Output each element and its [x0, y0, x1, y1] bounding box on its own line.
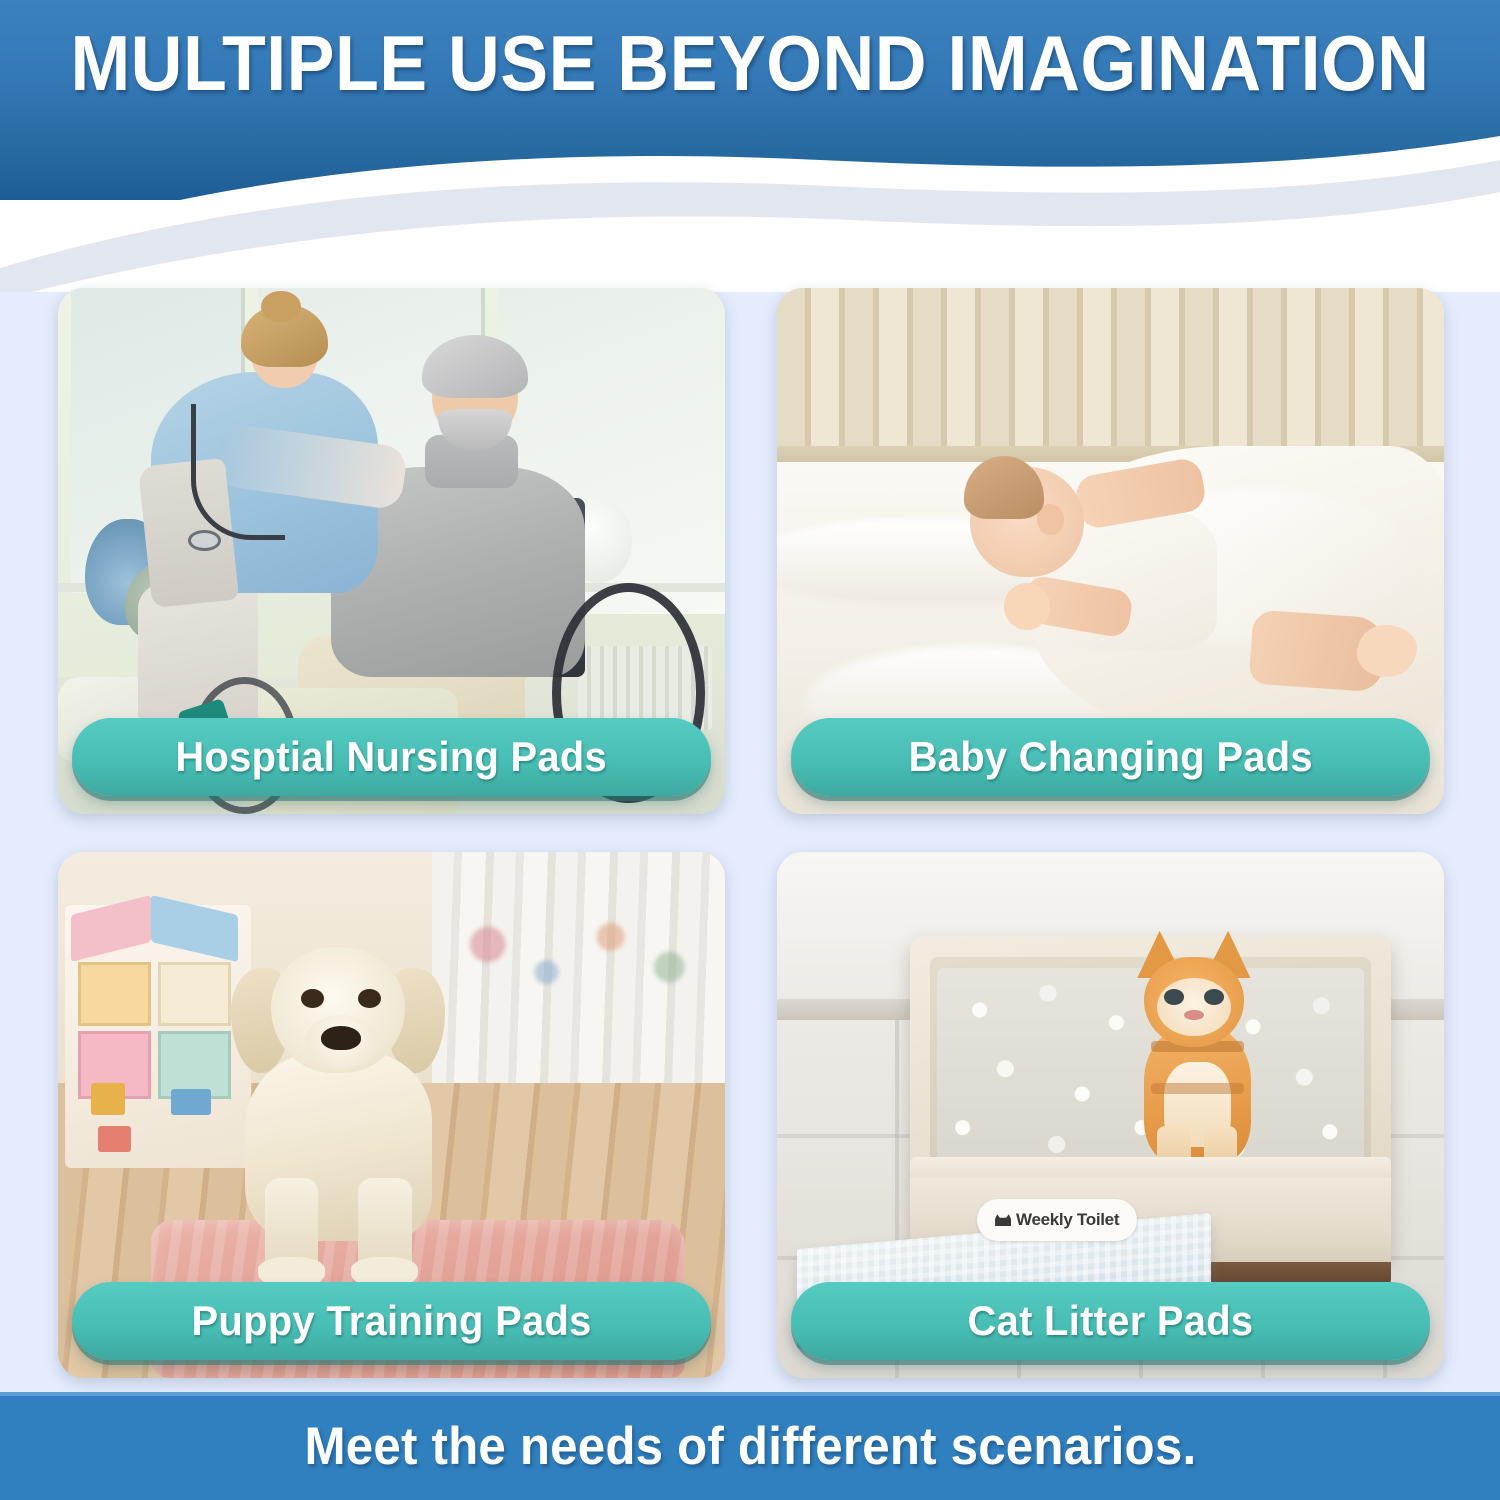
brand-name: Weekly Toilet: [1016, 1210, 1119, 1230]
badge-label: Baby Changing Pads: [908, 733, 1312, 781]
badge-baby-changing: Baby Changing Pads: [791, 718, 1430, 796]
use-case-card-baby-changing[interactable]: Baby Changing Pads: [777, 288, 1444, 814]
badge-label: Cat Litter Pads: [968, 1297, 1254, 1345]
product-brand-sticker: Weekly Toilet: [977, 1199, 1137, 1241]
badge-cat-litter: Cat Litter Pads: [791, 1282, 1430, 1360]
footer-tagline: Meet the needs of different scenarios.: [304, 1416, 1196, 1477]
header-banner: MULTIPLE USE BEYOND IMAGINATION: [0, 0, 1500, 292]
use-case-card-cat-litter[interactable]: Weekly Toilet Cat Litter Pads: [777, 852, 1444, 1378]
badge-label: Puppy Training Pads: [191, 1297, 591, 1345]
footer-banner: Meet the needs of different scenarios.: [0, 1392, 1500, 1500]
footer-top-strip: [0, 1392, 1500, 1396]
badge-puppy-training: Puppy Training Pads: [72, 1282, 711, 1360]
header-wave-decoration: [0, 0, 1500, 292]
badge-label: Hosptial Nursing Pads: [176, 733, 608, 781]
use-case-card-puppy-training[interactable]: Puppy Training Pads: [58, 852, 725, 1378]
cat-head-icon: [995, 1214, 1011, 1226]
use-case-card-hospital-nursing[interactable]: Hosptial Nursing Pads: [58, 288, 725, 814]
use-case-grid: Hosptial Nursing Pads Baby Changing Pads: [58, 288, 1444, 1378]
badge-hospital-nursing: Hosptial Nursing Pads: [72, 718, 711, 796]
